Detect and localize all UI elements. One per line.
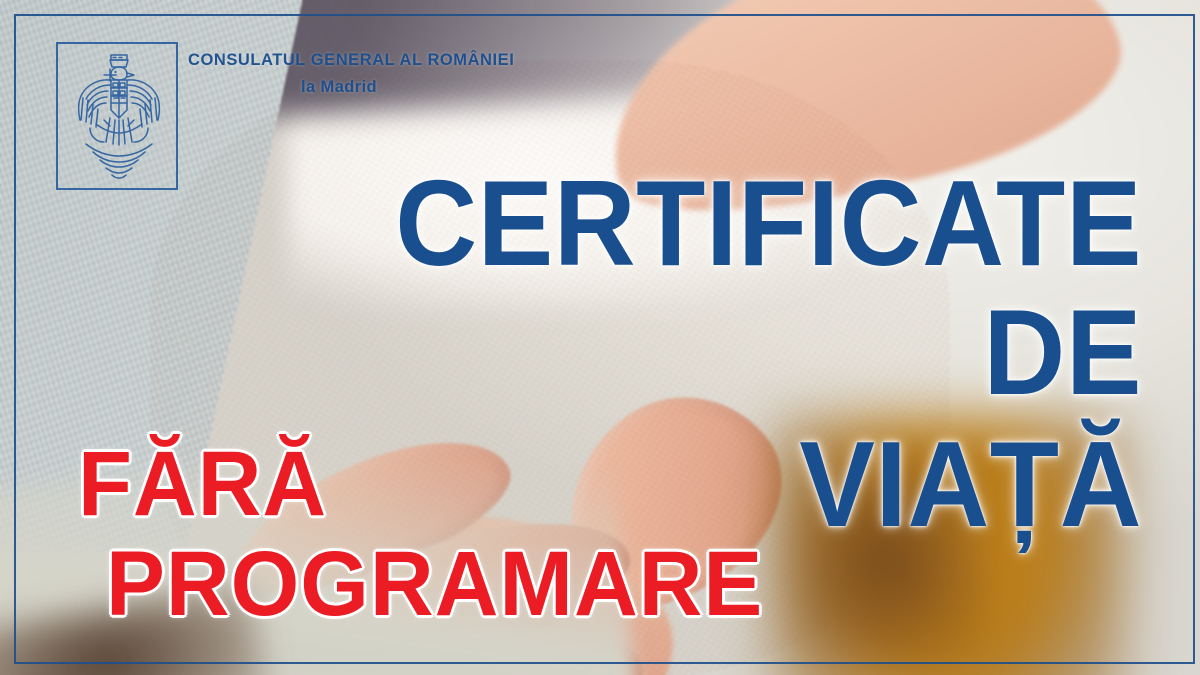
title-line-1: CERTIFICATE (395, 166, 1142, 281)
consulate-name-block: CONSULATUL GENERAL AL ROMÂNIEI la Madrid (188, 42, 514, 97)
organization-name: CONSULATUL GENERAL AL ROMÂNIEI (188, 50, 514, 71)
title-line-2: DE (395, 295, 1142, 410)
poster-canvas: CONSULATUL GENERAL AL ROMÂNIEI la Madrid… (0, 0, 1200, 675)
crest-frame (56, 42, 178, 190)
organization-city: la Madrid (301, 78, 514, 97)
callout-line-2: PROGRAMARE (106, 540, 763, 628)
callout-line-1: FĂRĂ (78, 440, 762, 528)
callout-message: FĂRĂ PROGRAMARE (78, 440, 791, 629)
